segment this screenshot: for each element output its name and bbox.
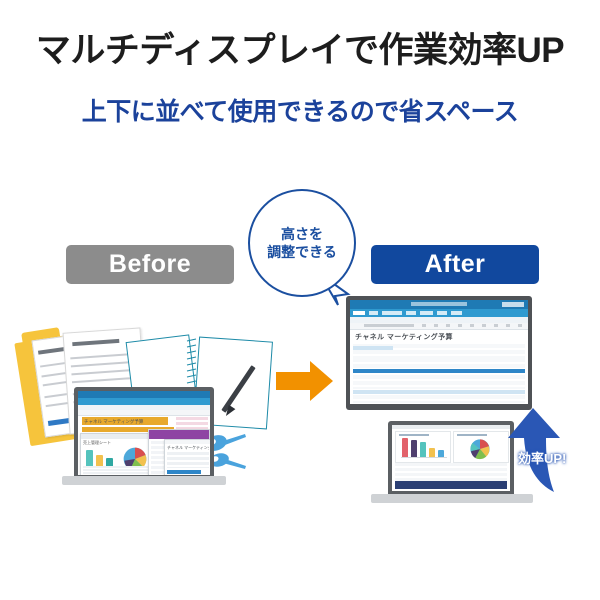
data-cells-region[interactable] [353,375,525,389]
row-label [353,346,393,350]
spreadsheet-doc-title: チャネル マーケティング予算 [355,332,453,342]
before-laptop-base [62,476,226,485]
callout-line-1: 高さを [281,225,323,243]
spreadsheet-app: チャネル マーケティング予算 [350,300,528,404]
ribbon-bar [78,398,210,405]
laptop-screen [392,425,510,491]
column-headers[interactable] [350,323,528,330]
window-controls-icon [80,393,92,397]
badge-after: After [371,245,539,284]
data-cells-region [167,452,209,468]
window-titlebar [78,391,210,398]
window-titlebar[interactable] [392,425,510,429]
ribbon-tabs[interactable] [350,309,528,317]
doc-title: 売上管理シート [83,440,111,446]
page-title: マルチディスプレイで作業効率UP [0,22,600,73]
promo-banner: マルチディスプレイで作業効率UP 上下に並べて使用できるので省スペース [0,0,600,600]
data-cells-region[interactable] [395,463,507,481]
doc-title: チャネル マーケティング予算 [84,419,143,425]
window-titlebar [165,440,210,444]
titlebar-filename [411,302,467,306]
window-titlebar [149,430,209,439]
bar-chart [84,447,118,468]
titlebar-search[interactable] [502,302,524,307]
bar-chart [401,437,447,458]
data-cells-region[interactable] [353,358,525,368]
chart-title [399,434,429,436]
spreadsheet-charts-app [392,425,510,491]
monitor-screen: チャネル マーケティング予算 [350,300,528,404]
page-subtitle: 上下に並べて使用できるので省スペース [0,92,600,128]
highlighted-row[interactable] [353,369,525,373]
pie-chart [468,438,492,460]
arrow-right-icon [276,360,334,402]
badge-before: Before [66,245,234,284]
efficiency-label: 効率UP! [518,448,566,467]
subtotal-row [353,390,525,394]
doc-title: チャネル マーケティング予算 [167,445,209,451]
data-cells-region[interactable] [353,395,525,403]
callout-line-2: 調整できる [267,243,337,261]
selected-row [167,470,201,474]
before-laptop-screen: チャネル マーケティング予算 売上管理シート [78,391,210,475]
window-controls-icon[interactable] [352,303,364,307]
column-headers [78,410,210,416]
window-titlebar[interactable] [350,300,528,309]
height-adjust-callout: 高さを 調整できる [248,189,356,297]
chart-title [457,434,487,436]
status-bar [395,481,507,489]
pie-chart-panel [453,431,509,463]
spreadsheet-window-front: チャネル マーケティング予算 [164,439,210,475]
bar-chart-panel [395,431,451,463]
